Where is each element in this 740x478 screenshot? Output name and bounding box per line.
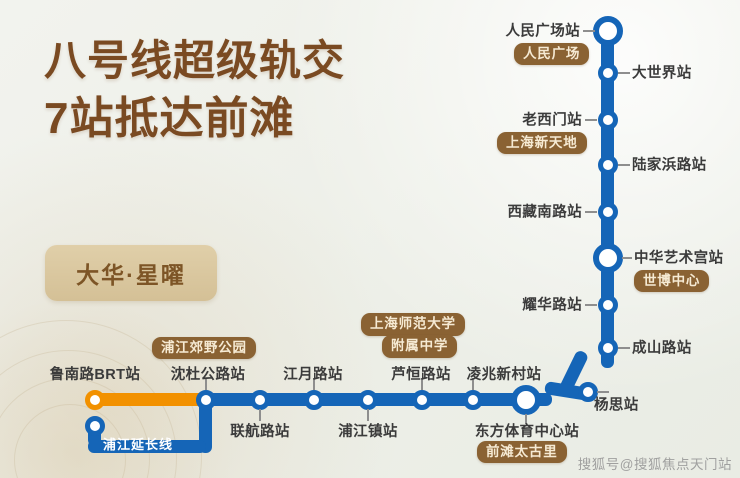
station-dot-shendu-gonglu[interactable] xyxy=(196,390,216,410)
station-tick xyxy=(618,347,630,349)
station-label-chengshan-lu: 成山路站 xyxy=(632,337,692,358)
headline-line-1: 八号线超级轨交 xyxy=(44,36,345,86)
station-tick xyxy=(585,119,597,121)
station-dot-luheng-lu[interactable] xyxy=(412,390,432,410)
station-label-lingzhao-xincun: 凌兆新村站 xyxy=(467,363,542,384)
station-label-renmin-guangchang: 人民广场站 xyxy=(506,20,581,41)
metro-line-poster: 八号线超级轨交 7站抵达前滩 大华·星曜 浦江延长线 xyxy=(0,0,740,478)
station-dot-xizang-nanlu[interactable] xyxy=(598,202,618,222)
station-dot-pujiangzhen[interactable] xyxy=(358,390,378,410)
station-label-jiangyue-lu: 江月路站 xyxy=(283,363,343,384)
station-dot-chengshan-lu[interactable] xyxy=(598,338,618,358)
watermark-text: 搜狐号@搜狐焦点天门站 xyxy=(578,453,732,473)
station-label-zhonghua-yishugong: 中华艺术宫站 xyxy=(634,247,723,268)
station-tick xyxy=(618,164,630,166)
poi-badge-xintiandi: 上海新天地 xyxy=(497,132,587,154)
station-dot-dashijie[interactable] xyxy=(598,63,618,83)
station-dot-jiangyue-lu[interactable] xyxy=(304,390,324,410)
poi-badge-qiantan-taikooli: 前滩太古里 xyxy=(477,441,567,463)
station-label-pujiangzhen: 浦江镇站 xyxy=(338,420,398,441)
station-dot-lujiabang-lu[interactable] xyxy=(598,155,618,175)
station-tick xyxy=(585,304,597,306)
station-tick xyxy=(583,30,595,32)
station-label-lunan-lu-brt: 鲁南路BRT站 xyxy=(50,363,141,384)
headline-line-2: 7站抵达前滩 xyxy=(44,92,345,146)
station-label-laoximen: 老西门站 xyxy=(522,109,582,130)
poi-badge-renmin-guangchang: 人民广场 xyxy=(514,43,589,65)
station-label-dongfang-tiyu-zhongxin: 东方体育中心站 xyxy=(475,420,579,441)
station-dot-renmin-guangchang[interactable] xyxy=(593,16,623,46)
station-label-shendu-gonglu: 沈杜公路站 xyxy=(171,363,246,384)
metro-extension-line-label: 浦江延长线 xyxy=(103,434,173,453)
station-dot-zhonghua-yishugong[interactable] xyxy=(593,243,623,273)
station-dot-extension-terminus[interactable] xyxy=(85,416,105,436)
station-dot-yaohua-lu[interactable] xyxy=(598,295,618,315)
station-label-xizang-nanlu: 西藏南路站 xyxy=(508,201,583,222)
station-label-yaohua-lu: 耀华路站 xyxy=(522,294,582,315)
project-name-label: 大华·星曜 xyxy=(76,256,186,290)
station-label-luheng-lu: 芦恒路站 xyxy=(391,363,451,384)
station-dot-lingzhao-xincun[interactable] xyxy=(463,390,483,410)
station-tick xyxy=(622,257,632,259)
station-dot-laoximen[interactable] xyxy=(598,110,618,130)
headline-block: 八号线超级轨交 7站抵达前滩 xyxy=(44,36,345,146)
station-label-lianhang-lu: 联航路站 xyxy=(230,420,290,441)
metro-line-orange-segment xyxy=(93,393,208,406)
station-label-lujiabang-lu: 陆家浜路站 xyxy=(632,154,707,175)
station-label-dashijie: 大世界站 xyxy=(632,62,692,83)
station-dot-lianhang-lu[interactable] xyxy=(250,390,270,410)
station-dot-lunan-lu-brt[interactable] xyxy=(85,390,105,410)
station-dot-dongfang-tiyu-zhongxin[interactable] xyxy=(511,385,541,415)
poi-badge-shida-fuzhong-line2: 附属中学 xyxy=(382,335,457,358)
station-tick xyxy=(585,211,597,213)
poi-badge-pujiang-jiaoye-gongyuan: 浦江郊野公园 xyxy=(152,337,256,359)
station-tick xyxy=(618,72,630,74)
poi-badge-shida-fuzhong-line1: 上海师范大学 xyxy=(361,313,465,336)
station-label-yangsi: 杨思站 xyxy=(594,394,639,415)
poi-badge-shibo-zhongxin: 世博中心 xyxy=(634,270,709,292)
project-name-badge: 大华·星曜 xyxy=(45,245,217,301)
